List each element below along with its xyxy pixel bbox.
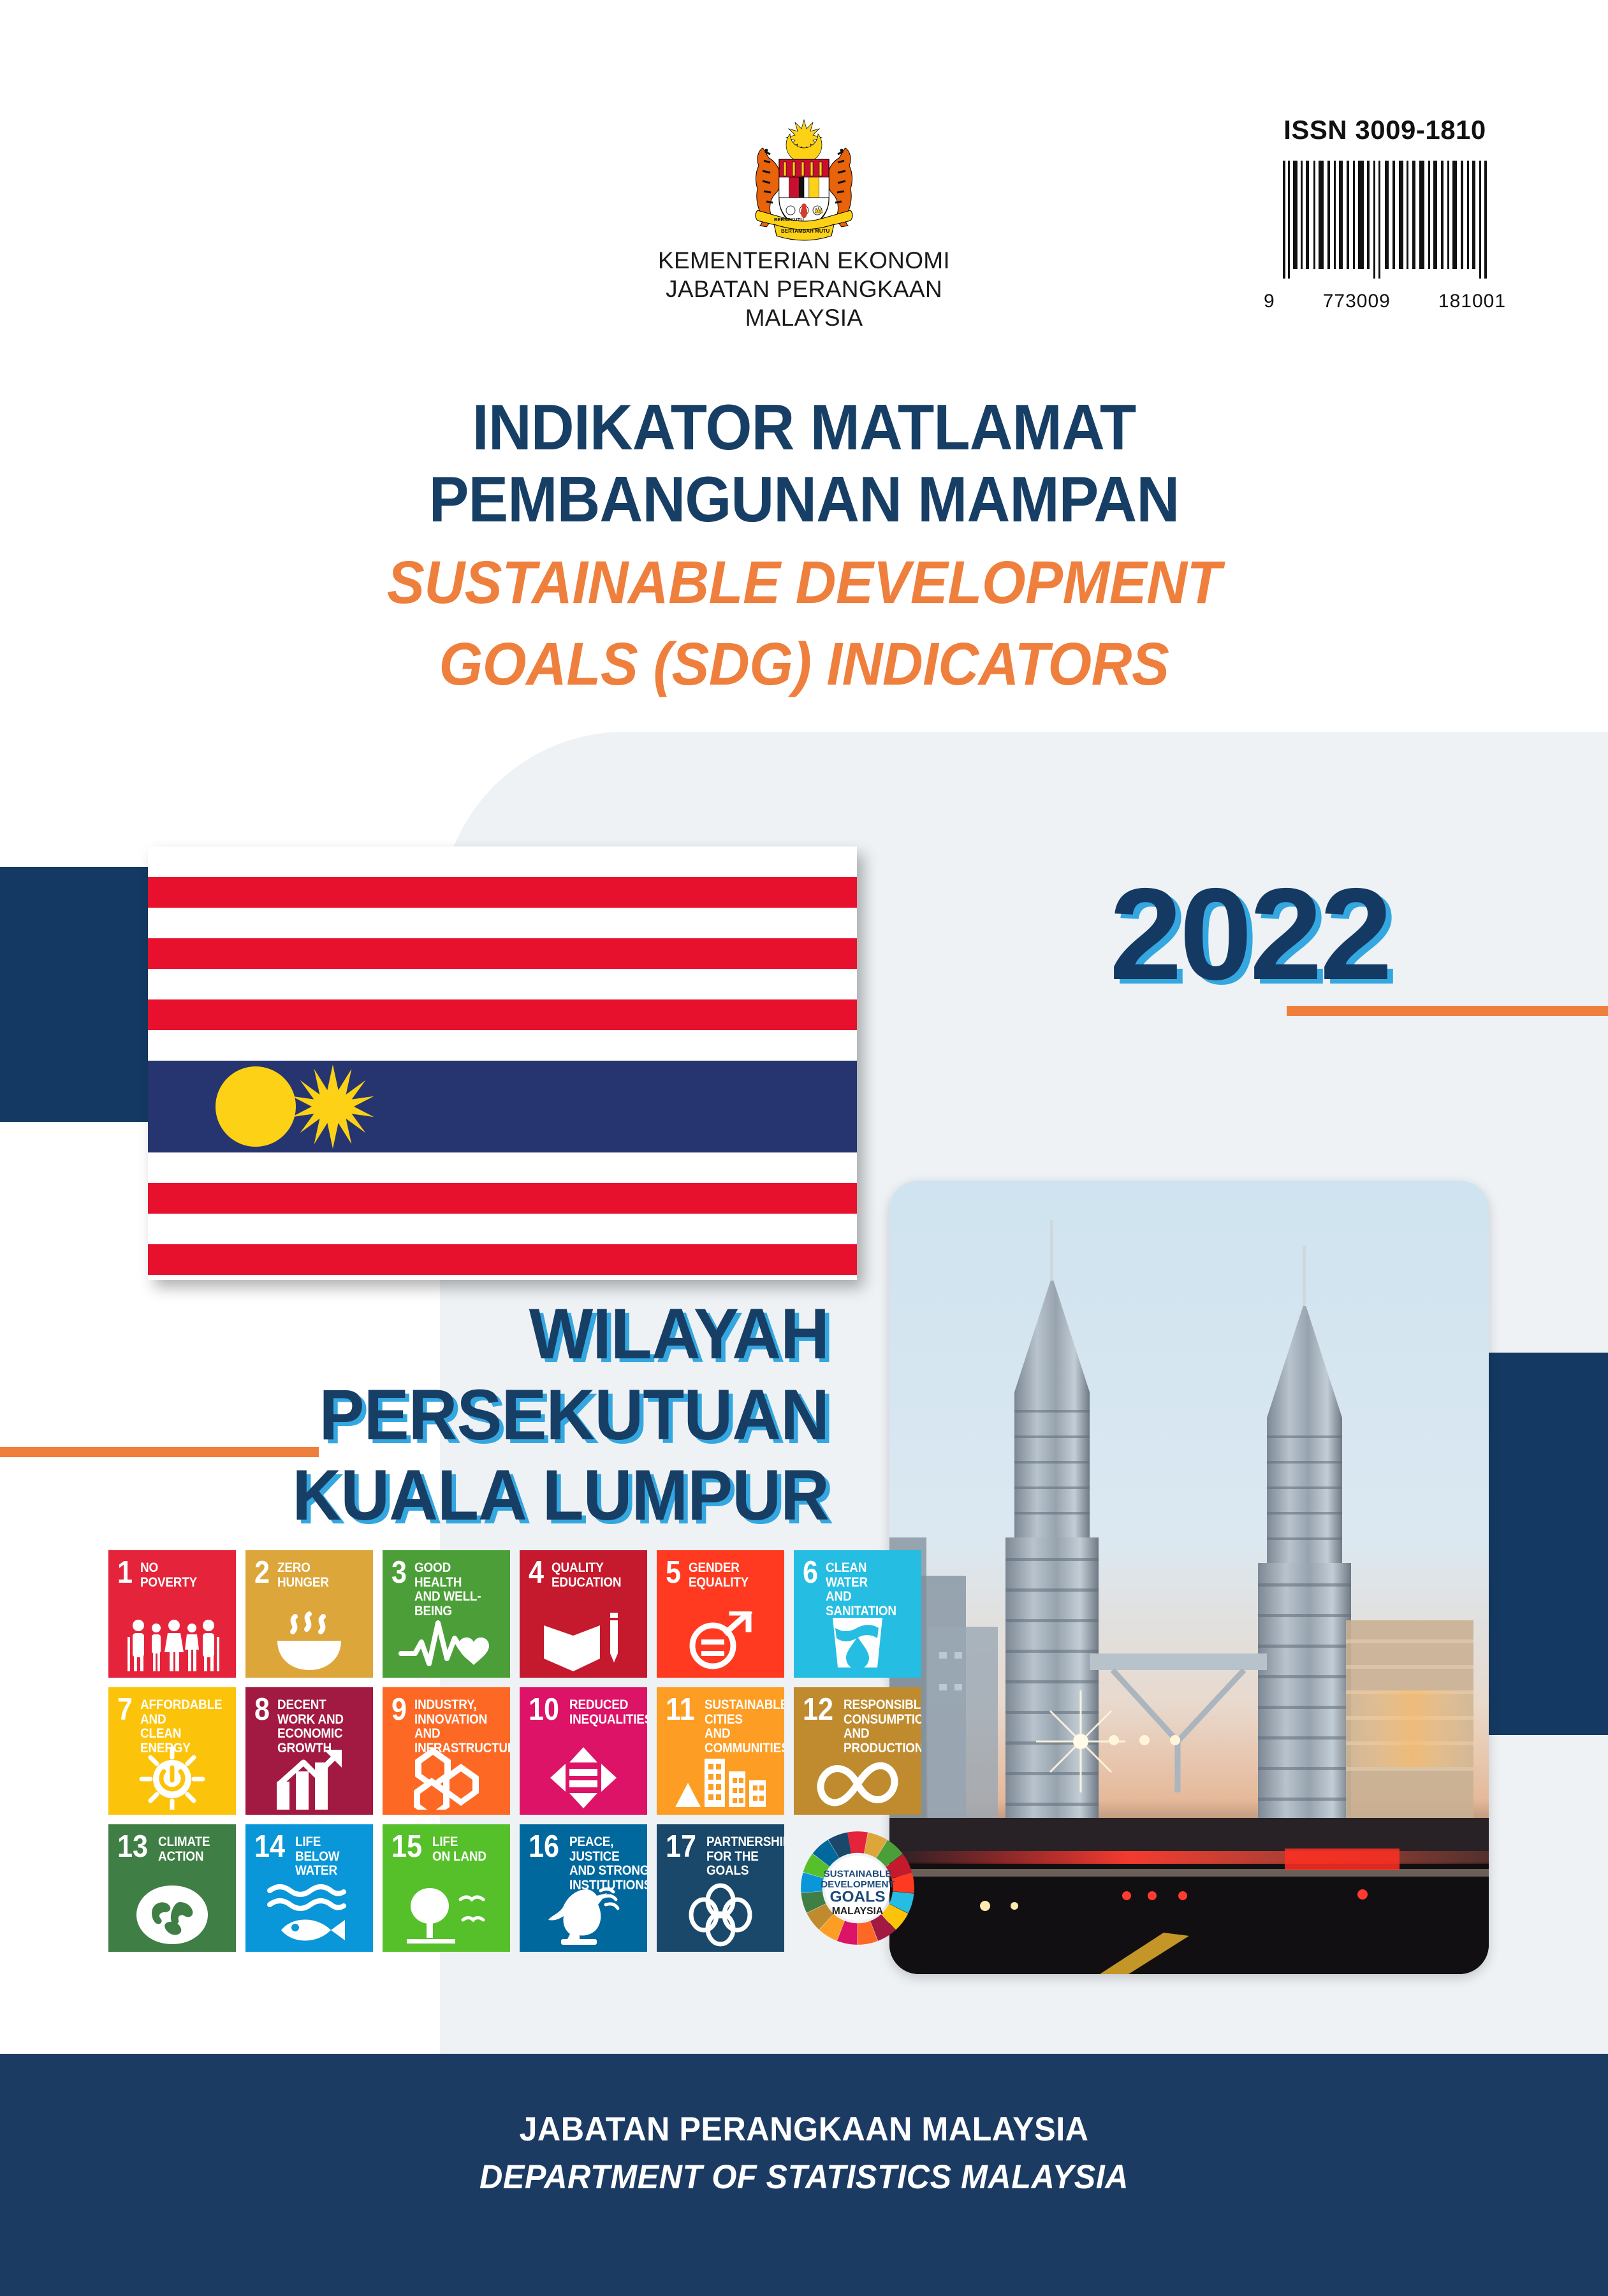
sdg-goal-13-number: 13	[117, 1833, 148, 1861]
petronas-towers-photo	[889, 1181, 1489, 1974]
issn-block: ISSN 3009-1810	[1251, 115, 1519, 312]
sdg-goal-4-label: QUALITY EDUCATION	[552, 1559, 621, 1590]
sdg-goal-4-head: 4 QUALITY EDUCATION	[520, 1550, 647, 1590]
steaming-bowl-icon	[245, 1606, 373, 1673]
sdg-goal-2-head: 2 ZERO HUNGER	[245, 1550, 373, 1590]
sdg-goal-5-number: 5	[666, 1559, 681, 1587]
barcode-digits-group-1: 773009	[1323, 291, 1391, 312]
sdg-goal-16-number: 16	[529, 1833, 559, 1861]
sdg-goal-10[interactable]: 10 REDUCED INEQUALITIES	[520, 1687, 647, 1815]
sdg-goal-14-number: 14	[254, 1833, 285, 1861]
heartbeat-line-icon	[383, 1606, 510, 1673]
sdg-goal-17[interactable]: 17 PARTNERSHIPS FOR THE GOALS	[657, 1824, 784, 1952]
sdg-goal-14[interactable]: 14 LIFE BELOW WATER	[245, 1824, 373, 1952]
svg-text:BERTAMBAH MUTU: BERTAMBAH MUTU	[781, 228, 830, 234]
sdg-goal-15-number: 15	[391, 1833, 422, 1861]
sdg-goal-14-head: 14 LIFE BELOW WATER	[245, 1824, 373, 1878]
title-english-line-1: SUSTAINABLE DEVELOPMENT	[56, 548, 1551, 618]
open-book-pencil-icon	[520, 1606, 647, 1673]
sdg-goal-6-number: 6	[803, 1559, 818, 1587]
sdg-goal-10-number: 10	[529, 1696, 559, 1724]
sdg-goal-2-label: ZERO HUNGER	[277, 1559, 329, 1590]
sdg-goal-15[interactable]: 15 LIFE ON LAND	[383, 1824, 510, 1952]
crescent-moon-icon	[216, 1066, 296, 1147]
sun-power-icon	[108, 1743, 236, 1810]
sdg-goal-17-head: 17 PARTNERSHIPS FOR THE GOALS	[657, 1824, 784, 1878]
sdg-goal-13-label: CLIMATE ACTION	[158, 1833, 210, 1864]
growth-chart-arrow-icon	[245, 1743, 373, 1810]
sdg-goal-5[interactable]: 5 GENDER EQUALITY	[657, 1550, 784, 1678]
barcode-digit-left: 9	[1264, 291, 1275, 312]
infinity-loop-icon	[794, 1743, 921, 1810]
sdg-color-wheel-icon: SUSTAINABLE DEVELOPMENT GOALS MALAYSIA	[795, 1826, 920, 1951]
sdg-goal-15-label: LIFE ON LAND	[432, 1833, 486, 1864]
sdg-goal-6[interactable]: 6 CLEAN WATER AND SANITATION	[794, 1550, 921, 1678]
sdg-color-wheel-logo[interactable]: SUSTAINABLE DEVELOPMENT GOALS MALAYSIA	[794, 1824, 921, 1952]
dove-gavel-icon	[520, 1880, 647, 1947]
sdg-goal-11-number: 11	[666, 1696, 695, 1724]
sdg-goal-17-number: 17	[666, 1833, 696, 1861]
sdg-goal-1[interactable]: 1 NO POVERTY	[108, 1550, 236, 1678]
ministry-line-1: KEMENTERIAN EKONOMI	[638, 246, 970, 275]
ean13-barcode-icon	[1264, 156, 1506, 289]
sdg-goal-1-number: 1	[117, 1559, 133, 1587]
title-english-line-2: GOALS (SDG) INDICATORS	[56, 629, 1551, 699]
sdg-goal-3-number: 3	[391, 1559, 407, 1587]
interlocked-rings-icon	[657, 1880, 784, 1947]
header: BERSEKUTU BERTAMBAH MUTU KEMENTERIAN EKO…	[0, 115, 1608, 370]
ministry-line-2: JABATAN PERANGKAAN MALAYSIA	[638, 275, 970, 332]
sdg-goal-17-label: PARTNERSHIPS FOR THE GOALS	[706, 1833, 784, 1878]
sdg-goal-12[interactable]: 12 RESPONSIBLE CONSUMPTION AND PRODUCTIO…	[794, 1687, 921, 1815]
footer-line-2: DEPARTMENT OF STATISTICS MALAYSIA	[40, 2158, 1568, 2197]
malaysia-coat-of-arms-icon: BERSEKUTU BERTAMBAH MUTU	[724, 115, 884, 242]
svg-text:BERSEKUTU: BERSEKUTU	[774, 217, 804, 222]
sdg-goal-7[interactable]: 7 AFFORDABLE AND CLEAN ENERGY	[108, 1687, 236, 1815]
sdg-goal-4[interactable]: 4 QUALITY EDUCATION	[520, 1550, 647, 1678]
sdg-wheel-line-3: GOALS	[830, 1889, 885, 1906]
sdg-goal-5-head: 5 GENDER EQUALITY	[657, 1550, 784, 1590]
barcode-digits: 9 773009 181001	[1264, 291, 1506, 312]
sdg-goal-15-head: 15 LIFE ON LAND	[383, 1824, 510, 1864]
title-block: INDIKATOR MATLAMAT PEMBANGUNAN MAMPAN SU…	[0, 392, 1608, 700]
sdg-goal-12-number: 12	[803, 1696, 833, 1724]
cover-page: BERSEKUTU BERTAMBAH MUTU KEMENTERIAN EKO…	[0, 0, 1608, 2296]
sdg-goal-5-label: GENDER EQUALITY	[689, 1559, 749, 1590]
crest-block: BERSEKUTU BERTAMBAH MUTU KEMENTERIAN EKO…	[638, 115, 970, 332]
issn-number: ISSN 3009-1810	[1251, 115, 1519, 145]
sdg-goal-1-head: 1 NO POVERTY	[108, 1550, 236, 1590]
city-buildings-icon	[657, 1743, 784, 1810]
sdg-goal-3[interactable]: 3 GOOD HEALTH AND WELL-BEING	[383, 1550, 510, 1678]
state-name-line-3: KUALA LUMPUR	[133, 1455, 830, 1536]
sdg-goal-8[interactable]: 8 DECENT WORK AND ECONOMIC GROWTH	[245, 1687, 373, 1815]
tree-birds-icon	[383, 1880, 510, 1947]
state-name-line-2: PERSEKUTUAN	[133, 1375, 830, 1456]
sdg-goal-10-label: REDUCED INEQUALITIES	[569, 1696, 647, 1727]
sdg-goal-7-number: 7	[117, 1696, 133, 1724]
sdg-wheel-line-4: MALAYSIA	[832, 1906, 883, 1917]
state-name: WILAYAH PERSEKUTUAN KUALA LUMPUR	[133, 1294, 830, 1536]
barcode-digits-group-2: 181001	[1438, 291, 1506, 312]
sdg-goal-2-number: 2	[254, 1559, 270, 1587]
ministry-name: KEMENTERIAN EKONOMI JABATAN PERANGKAAN M…	[638, 246, 970, 332]
kuala-lumpur-flag-icon	[148, 846, 857, 1280]
sdg-goal-11[interactable]: 11 SUSTAINABLE CITIES AND COMMUNITIES	[657, 1687, 784, 1815]
footer: JABATAN PERANGKAAN MALAYSIA DEPARTMENT O…	[0, 2054, 1608, 2296]
sdg-goal-8-number: 8	[254, 1696, 270, 1724]
fish-waves-icon	[245, 1880, 373, 1947]
sdg-goal-2[interactable]: 2 ZERO HUNGER	[245, 1550, 373, 1678]
sdg-goal-10-head: 10 REDUCED INEQUALITIES	[520, 1687, 647, 1727]
sdg-goals-grid: 1 NO POVERTY 2 ZERO HUNGER	[108, 1550, 921, 1952]
sdg-goal-4-number: 4	[529, 1559, 544, 1587]
globe-eye-icon	[108, 1880, 236, 1947]
year-label: 2022	[1109, 859, 1390, 1010]
footer-line-1: JABATAN PERANGKAAN MALAYSIA	[40, 2110, 1568, 2149]
sdg-goal-9[interactable]: 9 INDUSTRY, INNOVATION AND INFRASTRUCTUR…	[383, 1687, 510, 1815]
gender-equals-icon	[657, 1606, 784, 1673]
four-arrows-equal-icon	[520, 1743, 647, 1810]
water-glass-drop-icon	[794, 1606, 921, 1673]
petronas-twin-towers-icon	[889, 1181, 1489, 1974]
sdg-goal-9-number: 9	[391, 1696, 407, 1724]
sdg-goal-1-label: NO POVERTY	[140, 1559, 197, 1590]
sdg-goal-13[interactable]: 13 CLIMATE ACTION	[108, 1824, 236, 1952]
sdg-goal-16[interactable]: 16 PEACE, JUSTICE AND STRONG INSTITUTION…	[520, 1824, 647, 1952]
sdg-goal-13-head: 13 CLIMATE ACTION	[108, 1824, 236, 1864]
state-name-line-1: WILAYAH	[133, 1294, 830, 1375]
title-malay-line-2: PEMBANGUNAN MAMPAN	[56, 464, 1551, 536]
kuala-lumpur-flag	[148, 846, 857, 1280]
sdg-wheel-line-1: SUSTAINABLE	[824, 1868, 892, 1879]
interlocking-cubes-icon	[383, 1743, 510, 1810]
family-group-icon	[108, 1606, 236, 1673]
sdg-goal-14-label: LIFE BELOW WATER	[295, 1833, 358, 1878]
title-malay-line-1: INDIKATOR MATLAMAT	[56, 392, 1551, 464]
